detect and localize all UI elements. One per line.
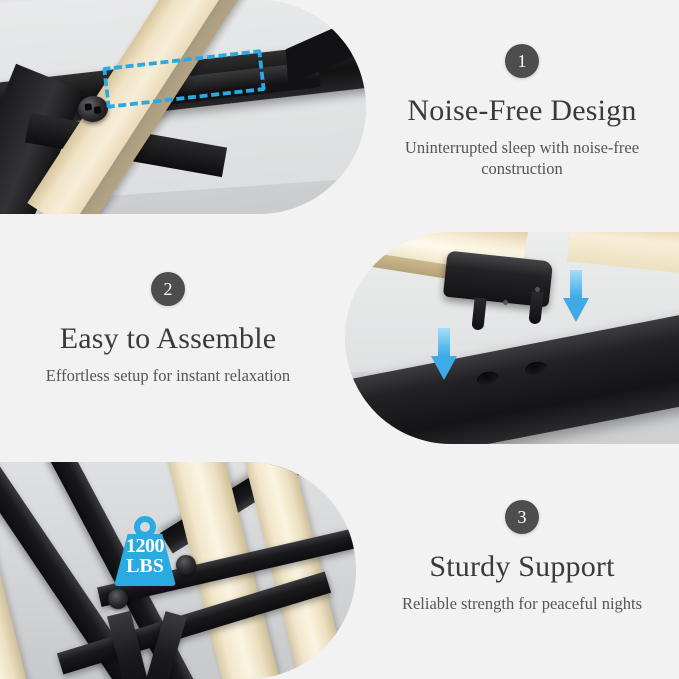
weight-capacity-text: 1200 LBS (114, 536, 176, 577)
photo-noise-free-design (0, 0, 366, 214)
bolt-head-icon (108, 589, 128, 609)
arrow-head (431, 356, 457, 380)
feature-title-1: Noise-Free Design (372, 94, 672, 129)
arrow-shaft (438, 328, 450, 358)
feature-text-noise-free-design: 1 Noise-Free Design Uninterrupted sleep … (372, 44, 672, 179)
arrow-shaft (570, 270, 582, 300)
step-number-badge-2: 2 (151, 272, 185, 306)
weight-capacity-value: 1200 (114, 536, 176, 556)
end-cap-detail (503, 300, 508, 305)
photo-sturdy-support (0, 462, 356, 679)
bolt-head-icon (176, 555, 196, 575)
arrow-down-icon (563, 270, 589, 322)
feature-title-2: Easy to Assemble (6, 322, 330, 357)
feature-text-sturdy-support: 3 Sturdy Support Reliable strength for p… (372, 500, 672, 614)
feature-subtitle-2: Effortless setup for instant relaxation (6, 365, 330, 386)
step-number-badge-1: 1 (505, 44, 539, 78)
photo-easy-to-assemble (345, 232, 679, 444)
feature-subtitle-3: Reliable strength for peaceful nights (372, 593, 672, 614)
feature-text-easy-to-assemble: 2 Easy to Assemble Effortless setup for … (6, 272, 330, 386)
weight-capacity-badge: 1200 LBS (114, 516, 176, 586)
weight-capacity-unit: LBS (114, 556, 176, 576)
feature-title-3: Sturdy Support (372, 550, 672, 585)
product-feature-infographic: 1 Noise-Free Design Uninterrupted sleep … (0, 0, 679, 679)
step-number-badge-3: 3 (505, 500, 539, 534)
feature-subtitle-1: Uninterrupted sleep with noise-free cons… (372, 137, 672, 180)
arrow-down-icon (431, 328, 457, 380)
arrow-head (563, 298, 589, 322)
